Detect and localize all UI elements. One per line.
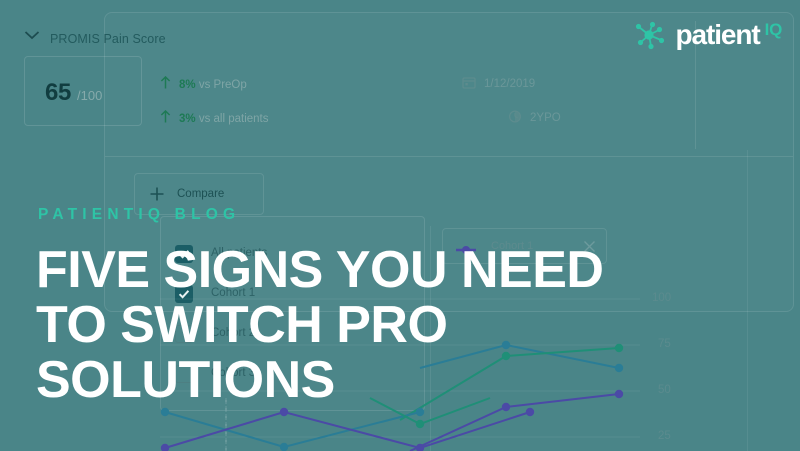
y-axis-tick: 25 (658, 430, 671, 442)
blog-headline: FIVE SIGNS YOU NEED TO SWITCH PRO SOLUTI… (36, 243, 676, 408)
timepoint-text: 2YPO (530, 112, 561, 124)
panel-divider (747, 150, 748, 451)
blog-hero-banner: PROMIS Pain Score 65 /100 8% vs PreOp 3%… (0, 0, 800, 451)
molecule-node-icon (633, 20, 671, 50)
delta-text: vs all patients (199, 113, 269, 125)
timepoint: 2YPO (508, 110, 561, 124)
delta-pct: 3% (179, 113, 196, 125)
clock-icon (508, 110, 522, 123)
delta-vs-preop: 8% vs PreOp (160, 76, 247, 92)
calendar-icon (462, 76, 476, 89)
visit-date-text: 1/12/2019 (484, 78, 535, 90)
score-denominator: /100 (77, 88, 102, 103)
logo-iq-suffix: IQ (765, 20, 782, 40)
score-box: 65 /100 (24, 56, 142, 126)
blog-kicker: PATIENTIQ BLOG (38, 206, 240, 224)
plus-icon (149, 186, 165, 202)
delta-vs-all-patients: 3% vs all patients (160, 110, 269, 126)
patientiq-logo: patient IQ (633, 18, 782, 52)
arrow-up-icon (160, 110, 171, 126)
delta-pct: 8% (179, 79, 196, 91)
chevron-down-icon[interactable] (24, 30, 40, 40)
delta-text: vs PreOp (199, 79, 247, 91)
logo-wordmark: patient (676, 21, 760, 49)
visit-date: 1/12/2019 (462, 76, 535, 90)
score-value: 65 (45, 79, 71, 107)
card-title: PROMIS Pain Score (50, 32, 166, 46)
compare-button-label: Compare (177, 188, 224, 200)
arrow-up-icon (160, 76, 171, 92)
